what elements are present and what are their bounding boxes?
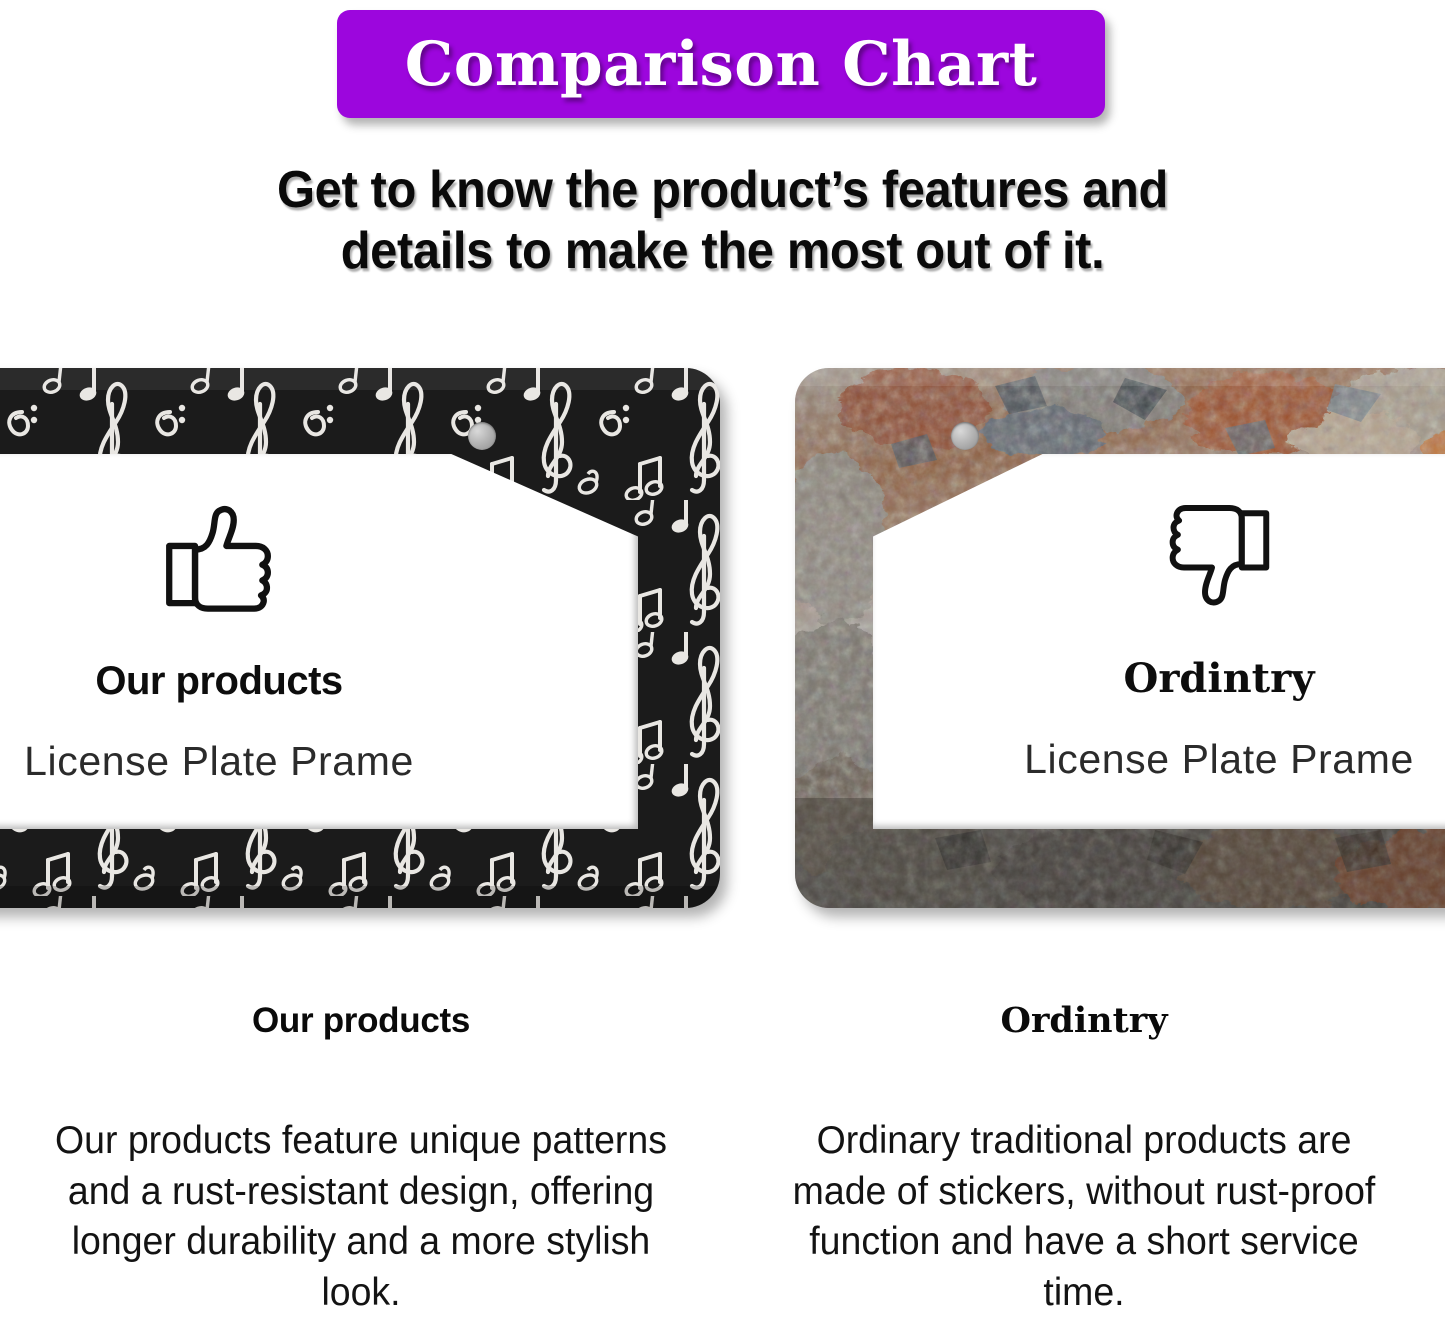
subtitle-line-1: Get to know the product’s features and: [43, 160, 1401, 221]
thumbs-up-icon: [160, 501, 278, 613]
ordintry-heading: Ordintry: [723, 1003, 1445, 1038]
subtitle-line-2: details to make the most out of it.: [43, 221, 1401, 282]
right-plate-content: Ordintry License Plate Prame: [873, 454, 1445, 829]
ordintry-description: Ordinary traditional products are made o…: [737, 1116, 1430, 1319]
our-products-heading: Our products: [0, 1003, 722, 1038]
page-subtitle: Get to know the product’s features and d…: [43, 160, 1401, 283]
mounting-hole-icon: [951, 422, 979, 450]
ordinary-product-plate-frame: Ordintry License Plate Prame: [795, 350, 1445, 925]
right-plate-subtitle: License Plate Prame: [1024, 739, 1414, 780]
header-banner-row: Comparison Chart: [0, 0, 1445, 135]
ordintry-column: Ordintry Ordinary traditional products a…: [723, 985, 1445, 1319]
left-plate-content: Our products License Plate Prame: [0, 454, 638, 829]
mounting-hole-icon: [468, 422, 496, 450]
frames-comparison-row: Our products License Plate Prame: [0, 350, 1445, 925]
comparison-chart-banner: Comparison Chart: [337, 10, 1105, 118]
our-product-plate-frame: Our products License Plate Prame: [0, 350, 720, 925]
our-products-column: Our products Our products feature unique…: [0, 985, 722, 1319]
right-plate-title: Ordintry: [1124, 659, 1315, 699]
left-plate-subtitle: License Plate Prame: [24, 741, 414, 782]
comparison-description-row: Our products Our products feature unique…: [0, 985, 1445, 1314]
thumbs-down-icon: [1163, 503, 1275, 611]
left-plate-title: Our products: [95, 661, 342, 701]
page-title: Comparison Chart: [405, 34, 1038, 95]
our-products-description: Our products feature unique patterns and…: [14, 1116, 707, 1319]
